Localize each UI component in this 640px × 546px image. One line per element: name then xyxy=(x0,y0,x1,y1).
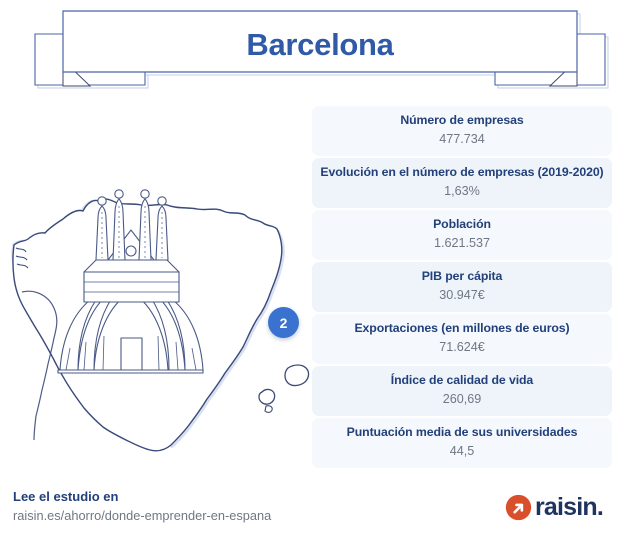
stat-label: Índice de calidad de vida xyxy=(318,373,606,388)
raisin-arrow-icon xyxy=(505,494,532,521)
stat-value: 71.624€ xyxy=(318,339,606,356)
stat-row: Población 1.621.537 xyxy=(312,210,612,260)
raisin-wordmark: raisin. xyxy=(535,495,603,520)
footer-study-link: Lee el estudio en raisin.es/ahorro/donde… xyxy=(13,488,343,525)
map-illustration: 2 xyxy=(0,100,320,470)
stat-row: Exportaciones (en millones de euros) 71.… xyxy=(312,314,612,364)
stat-value: 44,5 xyxy=(318,443,606,460)
formentera-island xyxy=(265,406,272,413)
stat-label: Número de empresas xyxy=(318,113,606,128)
spain-map-graphic xyxy=(0,100,320,470)
stat-value: 1,63% xyxy=(318,183,606,200)
stat-label: Puntuación media de sus universidades xyxy=(318,425,606,440)
raisin-logo: raisin. xyxy=(505,494,603,521)
stat-value: 477.734 xyxy=(318,131,606,148)
stat-value: 30.947€ xyxy=(318,287,606,304)
statistics-panel: Número de empresas 477.734 Evolución en … xyxy=(312,106,612,468)
stat-label: Exportaciones (en millones de euros) xyxy=(318,321,606,336)
stat-value: 260,69 xyxy=(318,391,606,408)
stat-row: Número de empresas 477.734 xyxy=(312,106,612,156)
stat-label: Evolución en el número de empresas (2019… xyxy=(318,165,606,180)
page-title: Barcelona xyxy=(60,14,580,76)
stat-row: Evolución en el número de empresas (2019… xyxy=(312,158,612,208)
stat-label: PIB per cápita xyxy=(318,269,606,284)
stat-row: Índice de calidad de vida 260,69 xyxy=(312,366,612,416)
stat-row: Puntuación media de sus universidades 44… xyxy=(312,418,612,468)
stat-row: PIB per cápita 30.947€ xyxy=(312,262,612,312)
stat-value: 1.621.537 xyxy=(318,235,606,252)
mallorca-island xyxy=(285,365,309,386)
ibiza-island xyxy=(259,389,275,404)
stat-label: Población xyxy=(318,217,606,232)
footer-heading: Lee el estudio en xyxy=(13,488,343,507)
page-banner: Barcelona xyxy=(0,0,640,100)
footer-url[interactable]: raisin.es/ahorro/donde-emprender-en-espa… xyxy=(13,507,343,526)
map-marker-rank[interactable]: 2 xyxy=(268,307,299,338)
